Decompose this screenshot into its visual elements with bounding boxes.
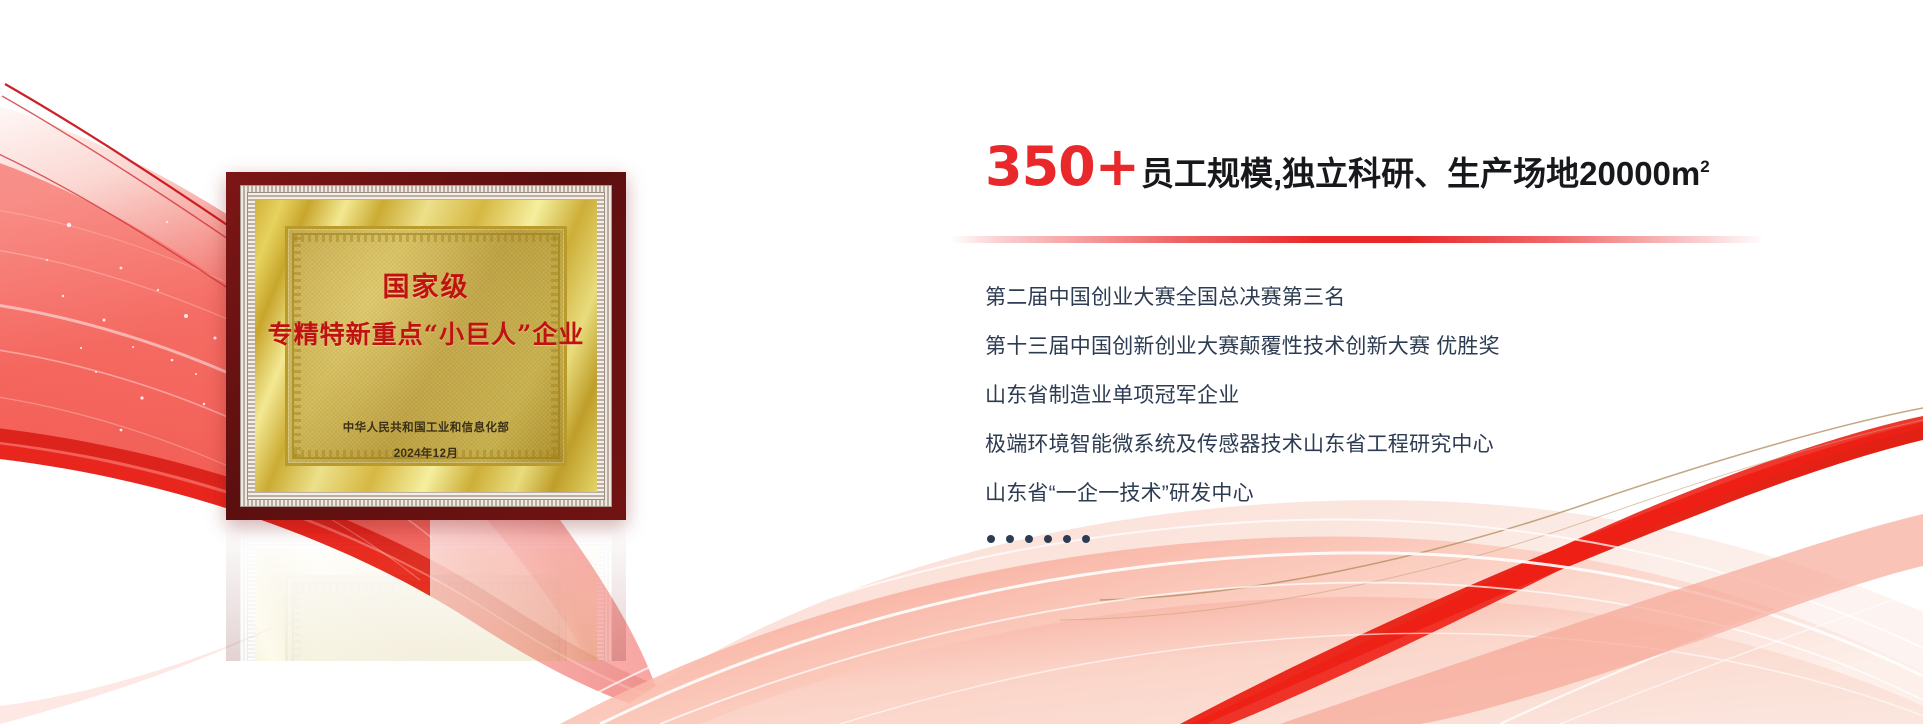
ellipsis-dot <box>1082 535 1090 543</box>
headline-superscript: 2 <box>1700 158 1709 175</box>
list-item: 第二届中国创业大赛全国总决赛第三名 <box>985 287 1500 308</box>
plaque-gold-bevel: 国家级 专精特新重点“小巨人”企业 中华人民共和国工业和信息化部 2024年12… <box>255 200 597 492</box>
plaque-title-line-2: 专精特新重点“小巨人”企业 <box>268 315 585 351</box>
list-item: 山东省“一企一技术”研发中心 <box>985 483 1500 504</box>
ellipsis-dot <box>987 535 995 543</box>
plaque-silver-border-inner: 国家级 专精特新重点“小巨人”企业 中华人民共和国工业和信息化部 2024年12… <box>247 192 605 500</box>
headline-underline-bar <box>950 236 1765 243</box>
ellipsis-dot <box>1063 535 1071 543</box>
plaque-title-line-1: 国家级 <box>383 265 470 304</box>
plaque-issuer: 中华人民共和国工业和信息化部 <box>343 419 510 435</box>
award-list: 第二届中国创业大赛全国总决赛第三名 第十三届中国创新创业大赛颠覆性技术创新大赛 … <box>985 287 1500 532</box>
headline-text: 员工规模,独立科研、生产场地20000m <box>1141 157 1700 190</box>
list-item: 第十三届中国创新创业大赛颠覆性技术创新大赛 优胜奖 <box>985 336 1500 357</box>
plaque-date: 2024年12月 <box>394 445 459 461</box>
award-plaque: 国家级 专精特新重点“小巨人”企业 中华人民共和国工业和信息化部 2024年12… <box>226 172 626 520</box>
plaque-gold-face: 国家级 专精特新重点“小巨人”企业 中华人民共和国工业和信息化部 2024年12… <box>285 226 567 466</box>
ellipsis-dot <box>1025 535 1033 543</box>
content-column: 350+ 员工规模,独立科研、生产场地20000m 2 第二届中国创业大赛全国总… <box>985 140 1885 194</box>
list-item: 山东省制造业单项冠军企业 <box>985 385 1500 406</box>
plaque-silver-border-outer: 国家级 专精特新重点“小巨人”企业 中华人民共和国工业和信息化部 2024年12… <box>240 185 612 507</box>
headline: 350+ 员工规模,独立科研、生产场地20000m 2 <box>985 140 1885 194</box>
banner-stage: 国家级 专精特新重点“小巨人”企业 中华人民共和国工业和信息化部 2024年12… <box>0 0 1923 724</box>
ellipsis-dots <box>987 535 1090 543</box>
ellipsis-dot <box>1006 535 1014 543</box>
plaque-frame: 国家级 专精特新重点“小巨人”企业 中华人民共和国工业和信息化部 2024年12… <box>226 172 626 520</box>
headline-number: 350+ <box>985 140 1139 194</box>
list-item: 极端环境智能微系统及传感器技术山东省工程研究中心 <box>985 434 1500 455</box>
ellipsis-dot <box>1044 535 1052 543</box>
plaque-reflection <box>226 521 626 661</box>
